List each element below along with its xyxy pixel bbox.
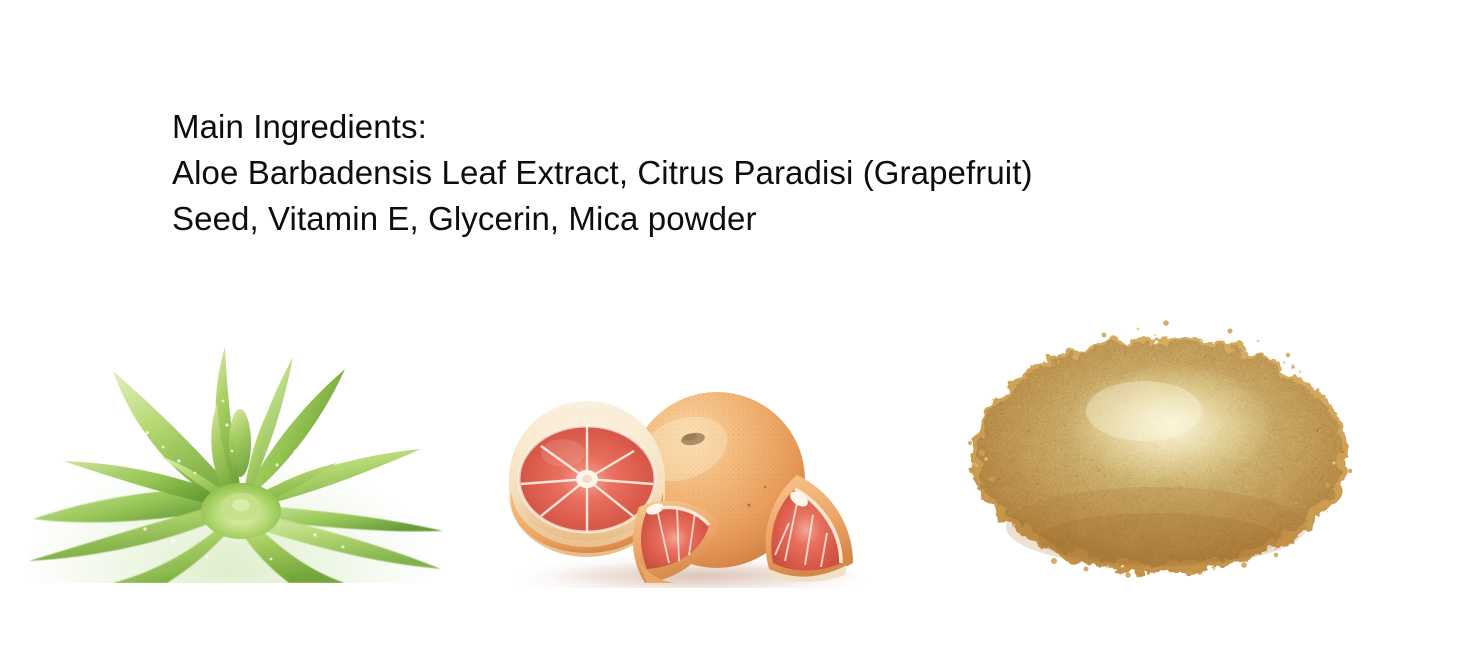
- aloe-vera-image: [27, 305, 447, 583]
- ingredients-line-2: Seed, Vitamin E, Glycerin, Mica powder: [172, 196, 1192, 242]
- grapefruit-illustration: [497, 383, 897, 588]
- ingredients-heading: Main Ingredients:: [172, 104, 1192, 150]
- grapefruit-image: [497, 383, 897, 588]
- mica-highlight: [1071, 366, 1273, 480]
- mica-powder-image: [958, 303, 1362, 588]
- ingredients-line-1: Aloe Barbadensis Leaf Extract, Citrus Pa…: [172, 150, 1192, 196]
- aloe-vera-illustration: [27, 305, 447, 583]
- ingredients-text-block: Main Ingredients: Aloe Barbadensis Leaf …: [172, 104, 1192, 242]
